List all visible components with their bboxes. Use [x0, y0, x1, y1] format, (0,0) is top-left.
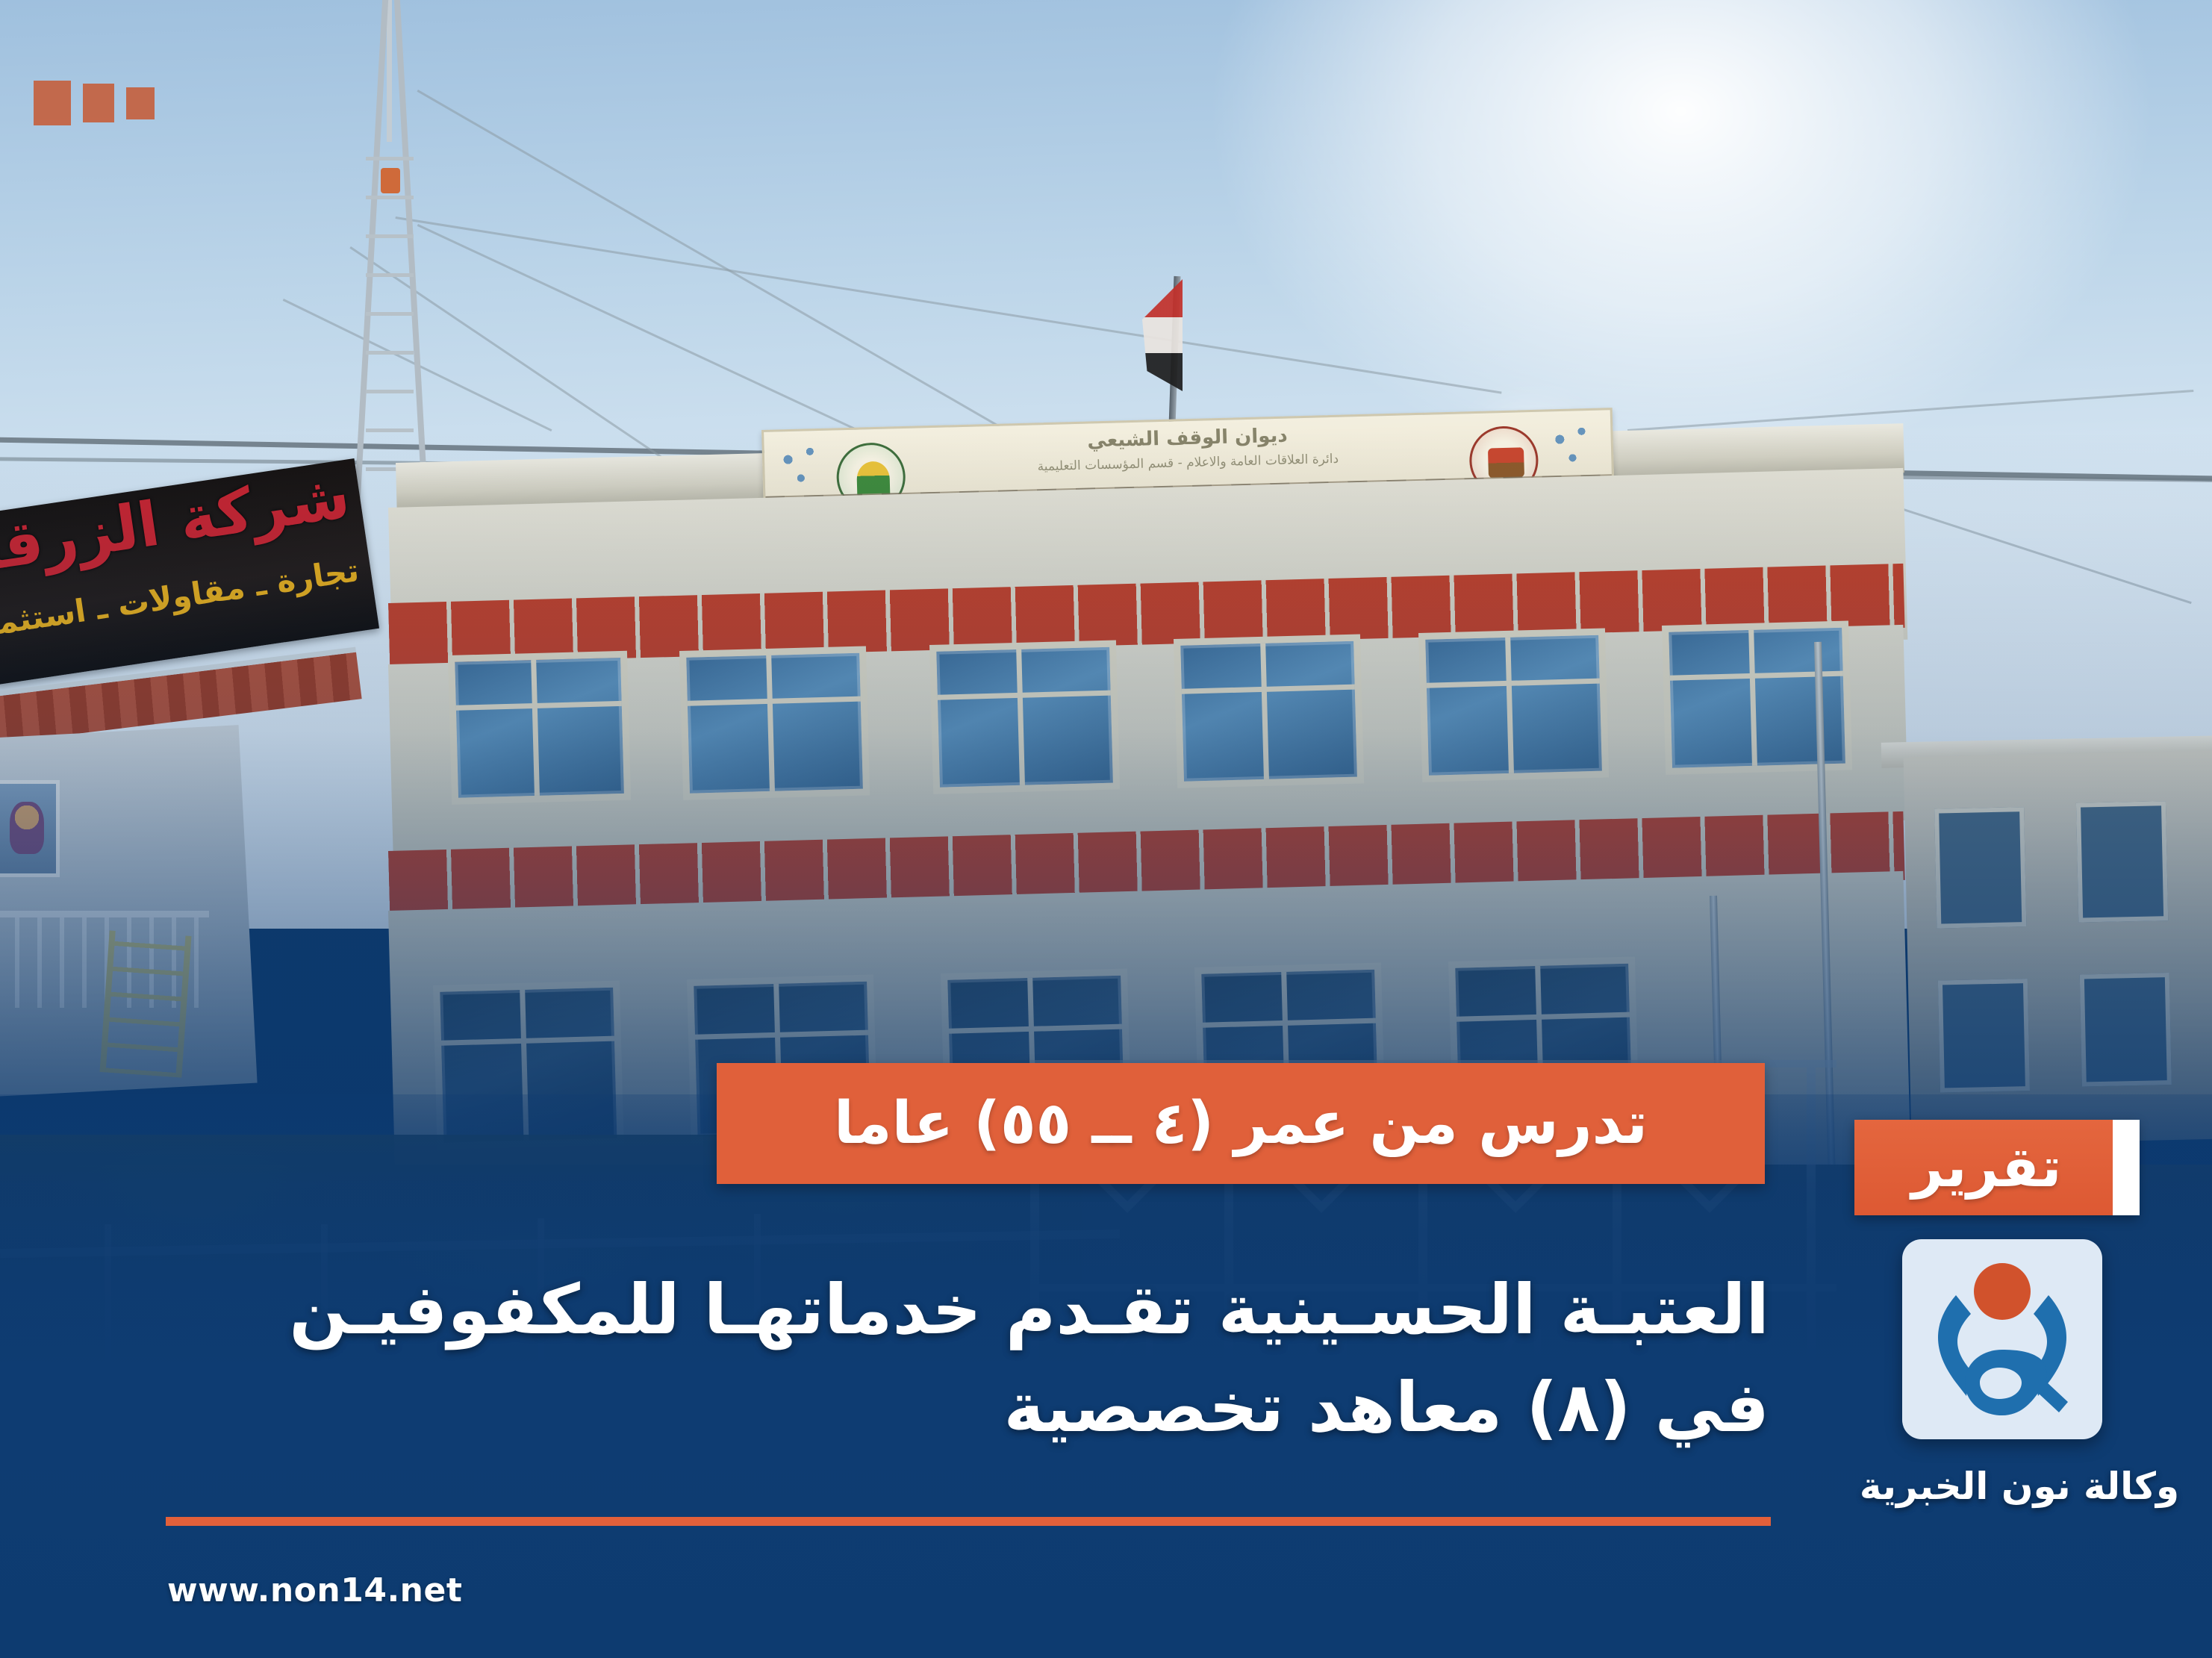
kicker-banner: تدرس من عمر (٤ ــ ٥٥) عاما [717, 1063, 1765, 1184]
headline-line-1: العتبـة الحسـينية تقـدم خدماتهـا للمكفوف… [97, 1262, 1769, 1359]
brand-column: تقرير وكالة نون الخبرية [1844, 1120, 2195, 1215]
report-badge-label: تقرير [1912, 1140, 2062, 1195]
headline-line-2: في (٨) معاهد تخصصية [97, 1359, 1769, 1457]
three-orange-bars-icon [34, 81, 155, 125]
news-card: شركة الزرقاء تجارة ـ مقاولات ـ استثمار د… [0, 0, 2212, 1658]
badge-white-tick [2113, 1120, 2140, 1215]
website-url[interactable]: www.non14.net [167, 1571, 462, 1609]
headline: العتبـة الحسـينية تقـدم خدماتهـا للمكفوف… [97, 1262, 1769, 1456]
report-badge: تقرير [1854, 1120, 2138, 1215]
agency-name: وكالة نون الخبرية [1844, 1465, 2195, 1508]
kicker-text: تدرس من عمر (٤ ــ ٥٥) عاما [834, 1094, 1648, 1153]
noon-agency-logo-icon [1902, 1239, 2102, 1439]
orange-divider [166, 1517, 1771, 1526]
